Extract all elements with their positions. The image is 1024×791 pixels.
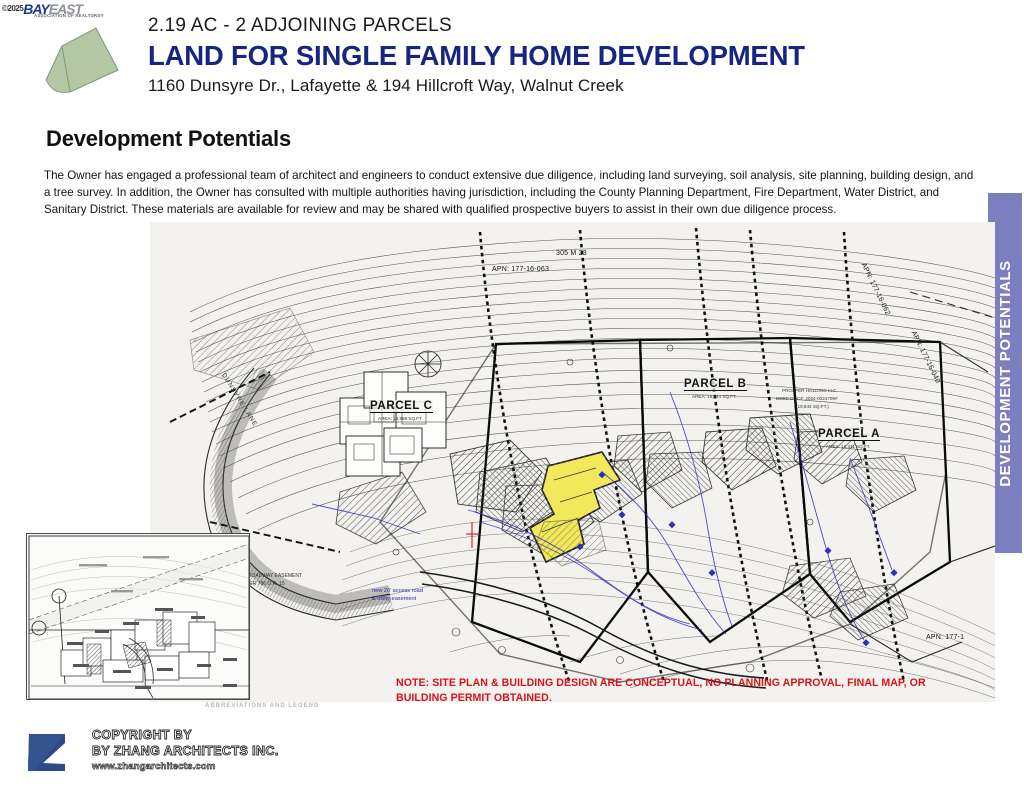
footer-company-line: BY ZHANG ARCHITECTS INC. (92, 744, 279, 760)
roadway-easement-note-line2: PER 786 O.R. 15 (246, 581, 285, 587)
footer-text-block: COPYRIGHT BY BY ZHANG ARCHITECTS INC. ww… (92, 728, 279, 772)
page-title: LAND FOR SINGLE FAMILY HOME DEVELOPMENT (148, 40, 908, 72)
zhang-architects-logo (26, 730, 68, 774)
apn-label-063: APN: 177-16-063 (492, 266, 549, 273)
section-title: Development Potentials (46, 126, 291, 152)
parcel-label-c: PARCEL C (370, 400, 433, 413)
header-block: 2.19 AC - 2 ADJOINING PARCELS LAND FOR S… (148, 16, 908, 96)
header-eyebrow: 2.19 AC - 2 ADJOINING PARCELS (148, 16, 908, 37)
logo-copyright-mark: ©2025 (2, 4, 23, 13)
owner-note-line1: PROSPER HOLDING LLC (782, 388, 836, 393)
section-paragraph: The Owner has engaged a professional tea… (44, 168, 974, 218)
footer-website-line[interactable]: www.zhangarchitects.com (92, 761, 279, 772)
inset-map-drawing (27, 534, 250, 700)
parcel-outline-graphic (30, 20, 140, 105)
map-drawing (150, 222, 995, 702)
parcel-area-c: AREA: 19,888 SQ.FT. (378, 416, 423, 421)
map-reference-label: 305 M 23 (556, 250, 587, 257)
inset-site-plan[interactable] (26, 533, 250, 700)
apn-label-truncated: APN: 177-1 (926, 634, 964, 641)
parcel-label-a: PARCEL A (818, 428, 880, 441)
parcel-label-b: PARCEL B (684, 378, 747, 391)
parcel-area-a: AREA: 13,411 SQ.FT. (826, 444, 870, 449)
access-road-note-line2: & utility easement (372, 596, 416, 604)
conceptual-disclaimer-note: NOTE: SITE PLAN & BUILDING DESIGN ARE CO… (396, 676, 956, 705)
owner-note-line2: DEED DOC#: 2024-0024709# (776, 396, 838, 401)
footer-block: COPYRIGHT BY BY ZHANG ARCHITECTS INC. ww… (26, 728, 426, 784)
property-address: 1160 Dunsyre Dr., Lafayette & 194 Hillcr… (148, 76, 908, 96)
side-tab-label: DEVELOPMENT POTENTIALS (997, 260, 1014, 487)
footer-copyright-line: COPYRIGHT BY (92, 728, 279, 744)
owner-note-line3: (19,844 SQ.FT.) (796, 404, 829, 409)
access-road-note-line1: new 20' access road (372, 588, 423, 596)
logo-tagline: ASSOCIATION OF REALTORS® (34, 13, 104, 18)
parcel-area-b: AREA: 19,844 SQ.FT. (692, 394, 737, 399)
inset-map-caption: ABBREVIATIONS AND LEGEND (205, 703, 319, 709)
site-survey-map[interactable]: PARCEL C AREA: 19,888 SQ.FT. PARCEL B AR… (150, 222, 995, 702)
